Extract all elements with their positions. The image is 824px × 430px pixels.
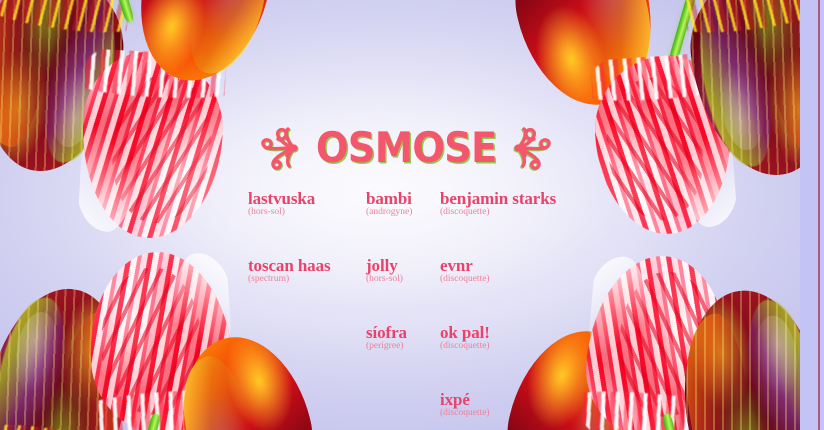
artist-roster: lastvuska (hors-sol) toscan haas (spectr…: [248, 190, 578, 430]
column-spacer: [440, 296, 556, 324]
artist-tag: (androgyne): [366, 208, 440, 218]
roster-entry[interactable]: ixpé (discoquette): [440, 391, 556, 419]
artist-name: ok pal!: [440, 324, 556, 341]
artist-tag: (discoquette): [440, 342, 556, 352]
artist-name: evnr: [440, 257, 556, 274]
roster-column-2: bambi (androgyne) jolly (hors-sol) síofr…: [366, 190, 440, 363]
artist-tag: (hors-sol): [366, 275, 440, 285]
column-spacer: [440, 363, 556, 391]
roster-entry[interactable]: ok pal! (discoquette): [440, 324, 556, 352]
column-spacer: [366, 296, 440, 324]
roster-entry[interactable]: evnr (discoquette): [440, 257, 556, 285]
roster-column-3: benjamin starks (discoquette) evnr (disc…: [440, 190, 556, 430]
artist-name: ixpé: [440, 391, 556, 408]
artist-name: jolly: [366, 257, 440, 274]
tulip-top-mid-left-flame: [140, 0, 264, 82]
artist-name: benjamin starks: [440, 190, 556, 207]
artist-name: bambi: [366, 190, 440, 207]
roster-entry[interactable]: benjamin starks (discoquette): [440, 190, 556, 218]
roster-entry[interactable]: bambi (androgyne): [366, 190, 440, 218]
roster-entry[interactable]: síofra (perigree): [366, 324, 440, 352]
artist-tag: (discoquette): [440, 409, 556, 419]
column-spacer: [248, 229, 366, 257]
roster-entry[interactable]: lastvuska (hors-sol): [248, 190, 366, 218]
artist-tag: (perigree): [366, 342, 440, 352]
page-edge-rule: [818, 0, 820, 430]
artist-tag: (discoquette): [440, 208, 556, 218]
artist-tag: (spectrum): [248, 275, 366, 285]
column-spacer: [440, 229, 556, 257]
roster-entry[interactable]: jolly (hors-sol): [366, 257, 440, 285]
osmose-landing-page: OSMOSE lastvuska (hors-sol): [0, 0, 824, 430]
page-edge-strip: [800, 0, 824, 430]
artist-name: lastvuska: [248, 190, 366, 207]
column-spacer: [366, 229, 440, 257]
artist-name: síofra: [366, 324, 440, 341]
site-logo[interactable]: OSMOSE: [256, 112, 556, 184]
wordmark-osmose: OSMOSE: [316, 127, 497, 169]
floral-swirl-icon: [508, 123, 558, 173]
artist-tag: (discoquette): [440, 275, 556, 285]
tulip-bottom-right-dark: [684, 290, 800, 430]
artist-tag: (hors-sol): [248, 208, 366, 218]
artist-name: toscan haas: [248, 257, 366, 274]
roster-entry[interactable]: toscan haas (spectrum): [248, 257, 366, 285]
roster-column-1: lastvuska (hors-sol) toscan haas (spectr…: [248, 190, 366, 296]
floral-swirl-icon: [254, 123, 304, 173]
tulip-top-right-dark: [694, 0, 800, 176]
